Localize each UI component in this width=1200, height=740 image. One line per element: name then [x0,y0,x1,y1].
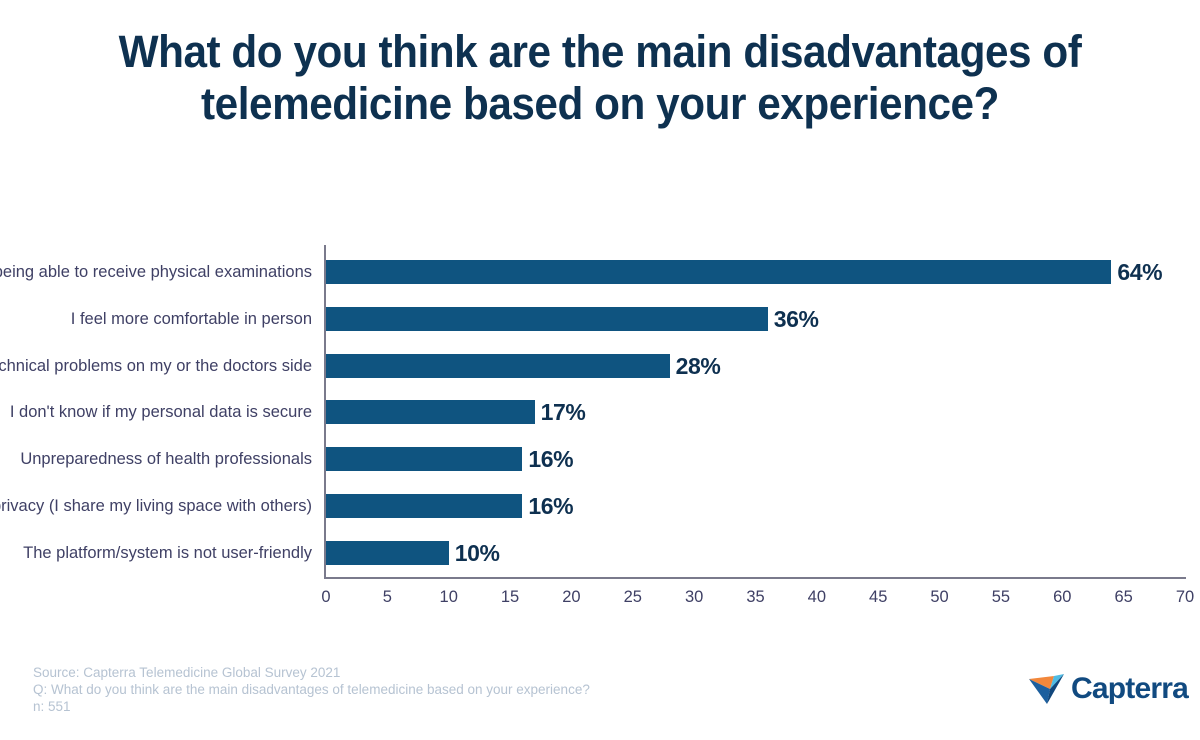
x-tick-label: 60 [1032,588,1092,607]
bar-row: Technical problems on my or the doctors … [0,354,1200,378]
bar-chart: Not being able to receive physical exami… [0,238,1200,588]
x-tick-label: 45 [848,588,908,607]
bar [326,260,1111,284]
x-tick-label: 30 [664,588,724,607]
bar [326,541,449,565]
bar-row: I feel more comfortable in person36% [0,307,1200,331]
bar-row: Lack of privacy (I share my living space… [0,494,1200,518]
bar-value-label: 16% [528,492,573,520]
category-label: I don't know if my personal data is secu… [0,400,312,424]
bar-value-label: 10% [455,539,500,567]
bar-value-label: 64% [1117,258,1162,286]
bar-value-label: 16% [528,445,573,473]
bar-value-label: 28% [676,352,721,380]
bar-row: I don't know if my personal data is secu… [0,400,1200,424]
x-tick-label: 0 [296,588,356,607]
category-label: The platform/system is not user-friendly [0,541,312,565]
x-tick-label: 35 [726,588,786,607]
bar [326,307,768,331]
bar [326,447,522,471]
bar-row: Unpreparedness of health professionals16… [0,447,1200,471]
category-label: I feel more comfortable in person [0,307,312,331]
bar [326,354,670,378]
bar-value-label: 17% [541,398,586,426]
bar-row: Not being able to receive physical exami… [0,260,1200,284]
x-tick-label: 15 [480,588,540,607]
category-label: Lack of privacy (I share my living space… [0,494,312,518]
category-label: Not being able to receive physical exami… [0,260,312,284]
bar [326,400,535,424]
capterra-wordmark: Capterra [1071,674,1188,704]
category-label: Technical problems on my or the doctors … [0,354,312,378]
bar-value-label: 36% [774,305,819,333]
source-footnote: Source: Capterra Telemedicine Global Sur… [33,664,733,715]
footnote-question: Q: What do you think are the main disadv… [33,681,733,698]
category-label: Unpreparedness of health professionals [0,447,312,471]
x-tick-label: 10 [419,588,479,607]
x-tick-label: 50 [910,588,970,607]
bar-row: The platform/system is not user-friendly… [0,541,1200,565]
bar-rows: Not being able to receive physical exami… [0,238,1200,579]
x-axis-ticks: 0510152025303540455055606570 [0,588,1200,616]
x-tick-label: 70 [1155,588,1200,607]
x-tick-label: 40 [787,588,847,607]
footnote-source: Source: Capterra Telemedicine Global Sur… [33,664,733,681]
x-tick-label: 55 [971,588,1031,607]
page-title: What do you think are the main disadvant… [92,26,1107,130]
footnote-sample-size: n: 551 [33,698,733,715]
capterra-logo: Capterra [1028,668,1193,710]
capterra-arrow-icon [1028,671,1068,707]
x-tick-label: 65 [1094,588,1154,607]
bar [326,494,522,518]
x-tick-label: 5 [357,588,417,607]
x-tick-label: 20 [541,588,601,607]
x-tick-label: 25 [603,588,663,607]
